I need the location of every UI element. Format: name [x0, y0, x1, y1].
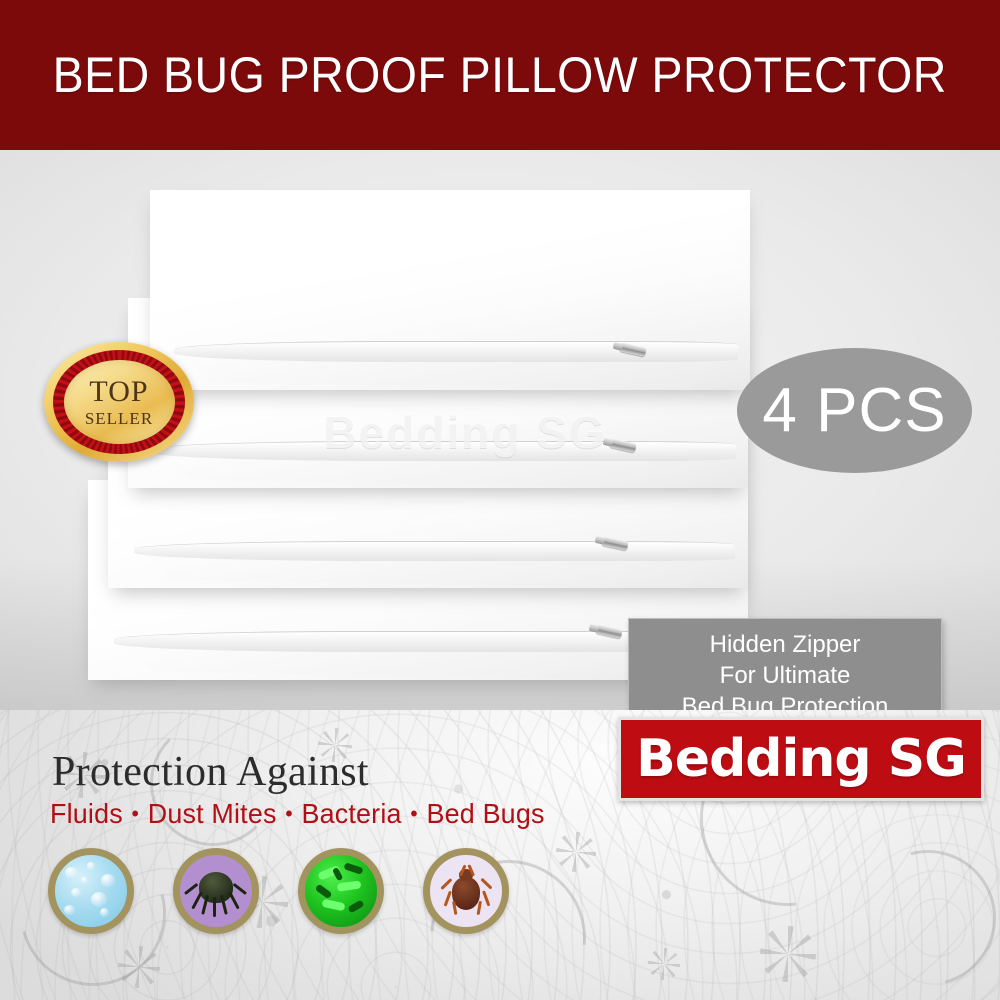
pillow-seam [134, 541, 736, 561]
fluids-icon [48, 848, 134, 934]
bug-leg [482, 891, 490, 907]
bug-body [452, 877, 481, 910]
bacteria-icon [298, 848, 384, 934]
bacteria-rod [331, 867, 343, 881]
bacteria-rod [315, 884, 333, 900]
zipper-inset-header: Hidden Zipper For Ultimate Bed Bug Prote… [629, 619, 941, 710]
bug-leg [443, 891, 451, 907]
zipper-inset-line-3: Bed Bug Protection [682, 691, 889, 711]
dust-mite-icon [173, 848, 259, 934]
quantity-badge: 4 PCS [737, 348, 972, 473]
protection-list-item: Bacteria [301, 798, 401, 829]
zipper-inset-line-1: Hidden Zipper [710, 629, 861, 660]
protection-list-item: Bed Bugs [427, 798, 545, 829]
mite-leg [232, 883, 246, 895]
bacteria-rod [336, 881, 361, 892]
quantity-badge-label: 4 PCS [762, 375, 946, 446]
pillow-seam [174, 341, 738, 362]
product-stage: Bedding SG TOP SELLER 4 PCS Size: 48 X 7… [0, 150, 1000, 710]
damask-flower [648, 948, 680, 980]
water-droplet [87, 862, 96, 870]
protection-list: Fluids•Dust Mites•Bacteria•Bed Bugs [50, 798, 545, 830]
page-title: BED BUG PROOF PILLOW PROTECTOR [53, 46, 947, 104]
bed-bug-icon [423, 848, 509, 934]
water-droplet [65, 867, 78, 879]
damask-flower [760, 926, 816, 982]
mite-leg [184, 883, 198, 895]
list-separator: • [410, 801, 418, 826]
mite-leg [213, 897, 216, 917]
bacteria-rod [343, 862, 363, 875]
protection-title: Protection Against [52, 748, 369, 796]
mite-leg [192, 892, 203, 910]
water-droplet [71, 888, 81, 897]
brand-logo: Bedding SG [618, 717, 984, 801]
hidden-zipper-inset: Hidden Zipper For Ultimate Bed Bug Prote… [628, 618, 942, 710]
water-droplet [101, 874, 115, 887]
brand-logo-text: Bedding SG [636, 729, 966, 789]
bug-leg [481, 879, 493, 891]
bacteria-rod [347, 899, 364, 913]
top-seller-badge: TOP SELLER [44, 342, 194, 462]
pillow-seam [153, 441, 736, 461]
badge-face: TOP SELLER [64, 360, 175, 444]
zipper-inset-line-2: For Ultimate [720, 660, 851, 691]
water-droplet [100, 908, 109, 917]
list-separator: • [285, 801, 293, 826]
protection-list-item: Dust Mites [148, 798, 277, 829]
product-marketing-image: BED BUG PROOF PILLOW PROTECTOR [0, 0, 1000, 1000]
water-droplet [81, 877, 88, 883]
badge-secondary-label: SELLER [85, 410, 153, 427]
mite-leg [228, 892, 239, 910]
list-separator: • [131, 801, 139, 826]
header-banner: BED BUG PROOF PILLOW PROTECTOR [0, 0, 1000, 150]
bacteria-rod [322, 899, 346, 912]
water-droplet [91, 892, 107, 906]
water-droplet [64, 905, 76, 915]
bug-leg [440, 879, 452, 891]
protection-list-item: Fluids [50, 798, 123, 829]
pillow-protector-top [150, 190, 750, 390]
badge-primary-label: TOP [89, 377, 148, 407]
damask-flower [556, 832, 596, 872]
